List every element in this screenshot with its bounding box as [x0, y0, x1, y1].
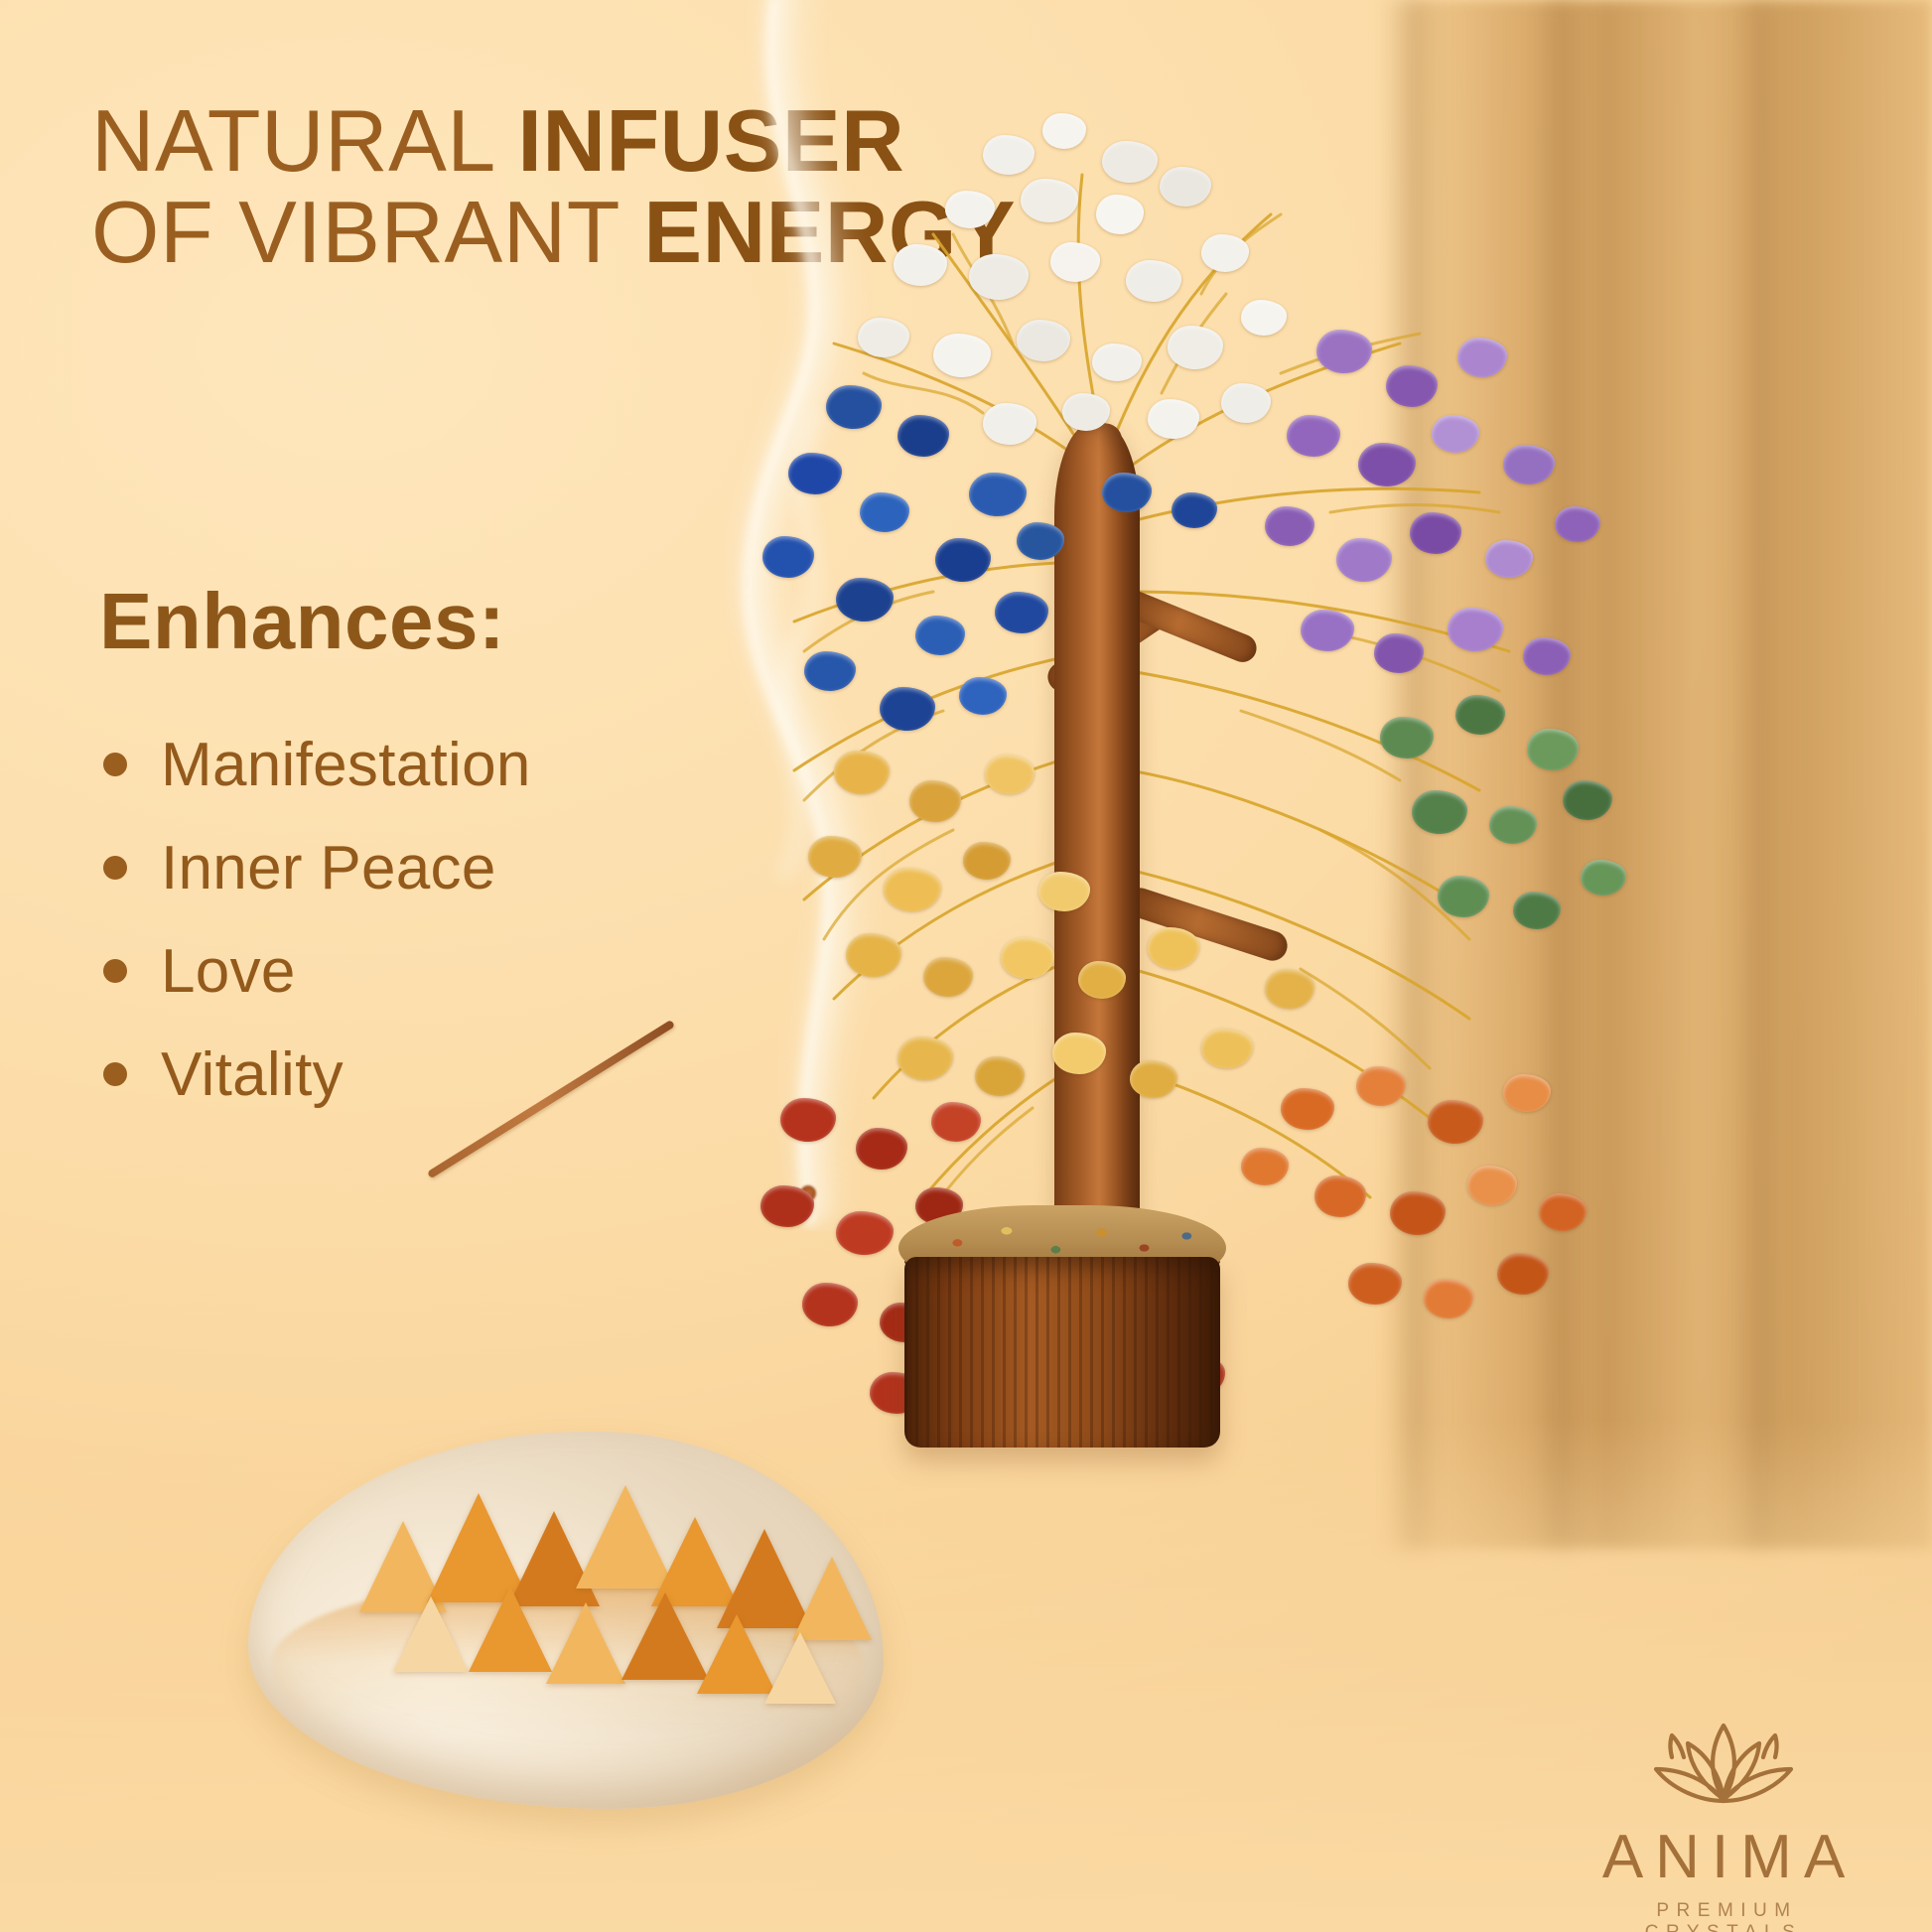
gemstone-canopy	[685, 95, 1837, 1604]
brand-tagline: PREMIUM CRYSTALS	[1575, 1900, 1872, 1932]
brand-name: ANIMA	[1575, 1827, 1872, 1888]
lotus-flower-icon	[1636, 1714, 1811, 1821]
base-barrel	[904, 1257, 1220, 1448]
headline-line2-light: OF VIBRANT	[91, 183, 643, 281]
headline-line1-light: NATURAL	[91, 91, 517, 190]
benefit-label: Inner Peace	[161, 833, 496, 903]
bullet-icon	[103, 1062, 127, 1086]
benefit-label: Vitality	[161, 1039, 344, 1110]
benefits-heading: Enhances:	[99, 576, 505, 667]
chakra-gemstone-tree	[685, 95, 1837, 1604]
benefit-label: Manifestation	[161, 730, 531, 800]
product-marketing-image: NATURAL INFUSER OF VIBRANT ENERGY Enhanc…	[0, 0, 1932, 1932]
brand-logo: ANIMA PREMIUM CRYSTALS	[1575, 1714, 1872, 1932]
bullet-icon	[103, 753, 127, 776]
tree-wooden-base	[898, 1205, 1226, 1451]
bullet-icon	[103, 959, 127, 983]
bullet-icon	[103, 856, 127, 880]
benefit-label: Love	[161, 936, 296, 1007]
